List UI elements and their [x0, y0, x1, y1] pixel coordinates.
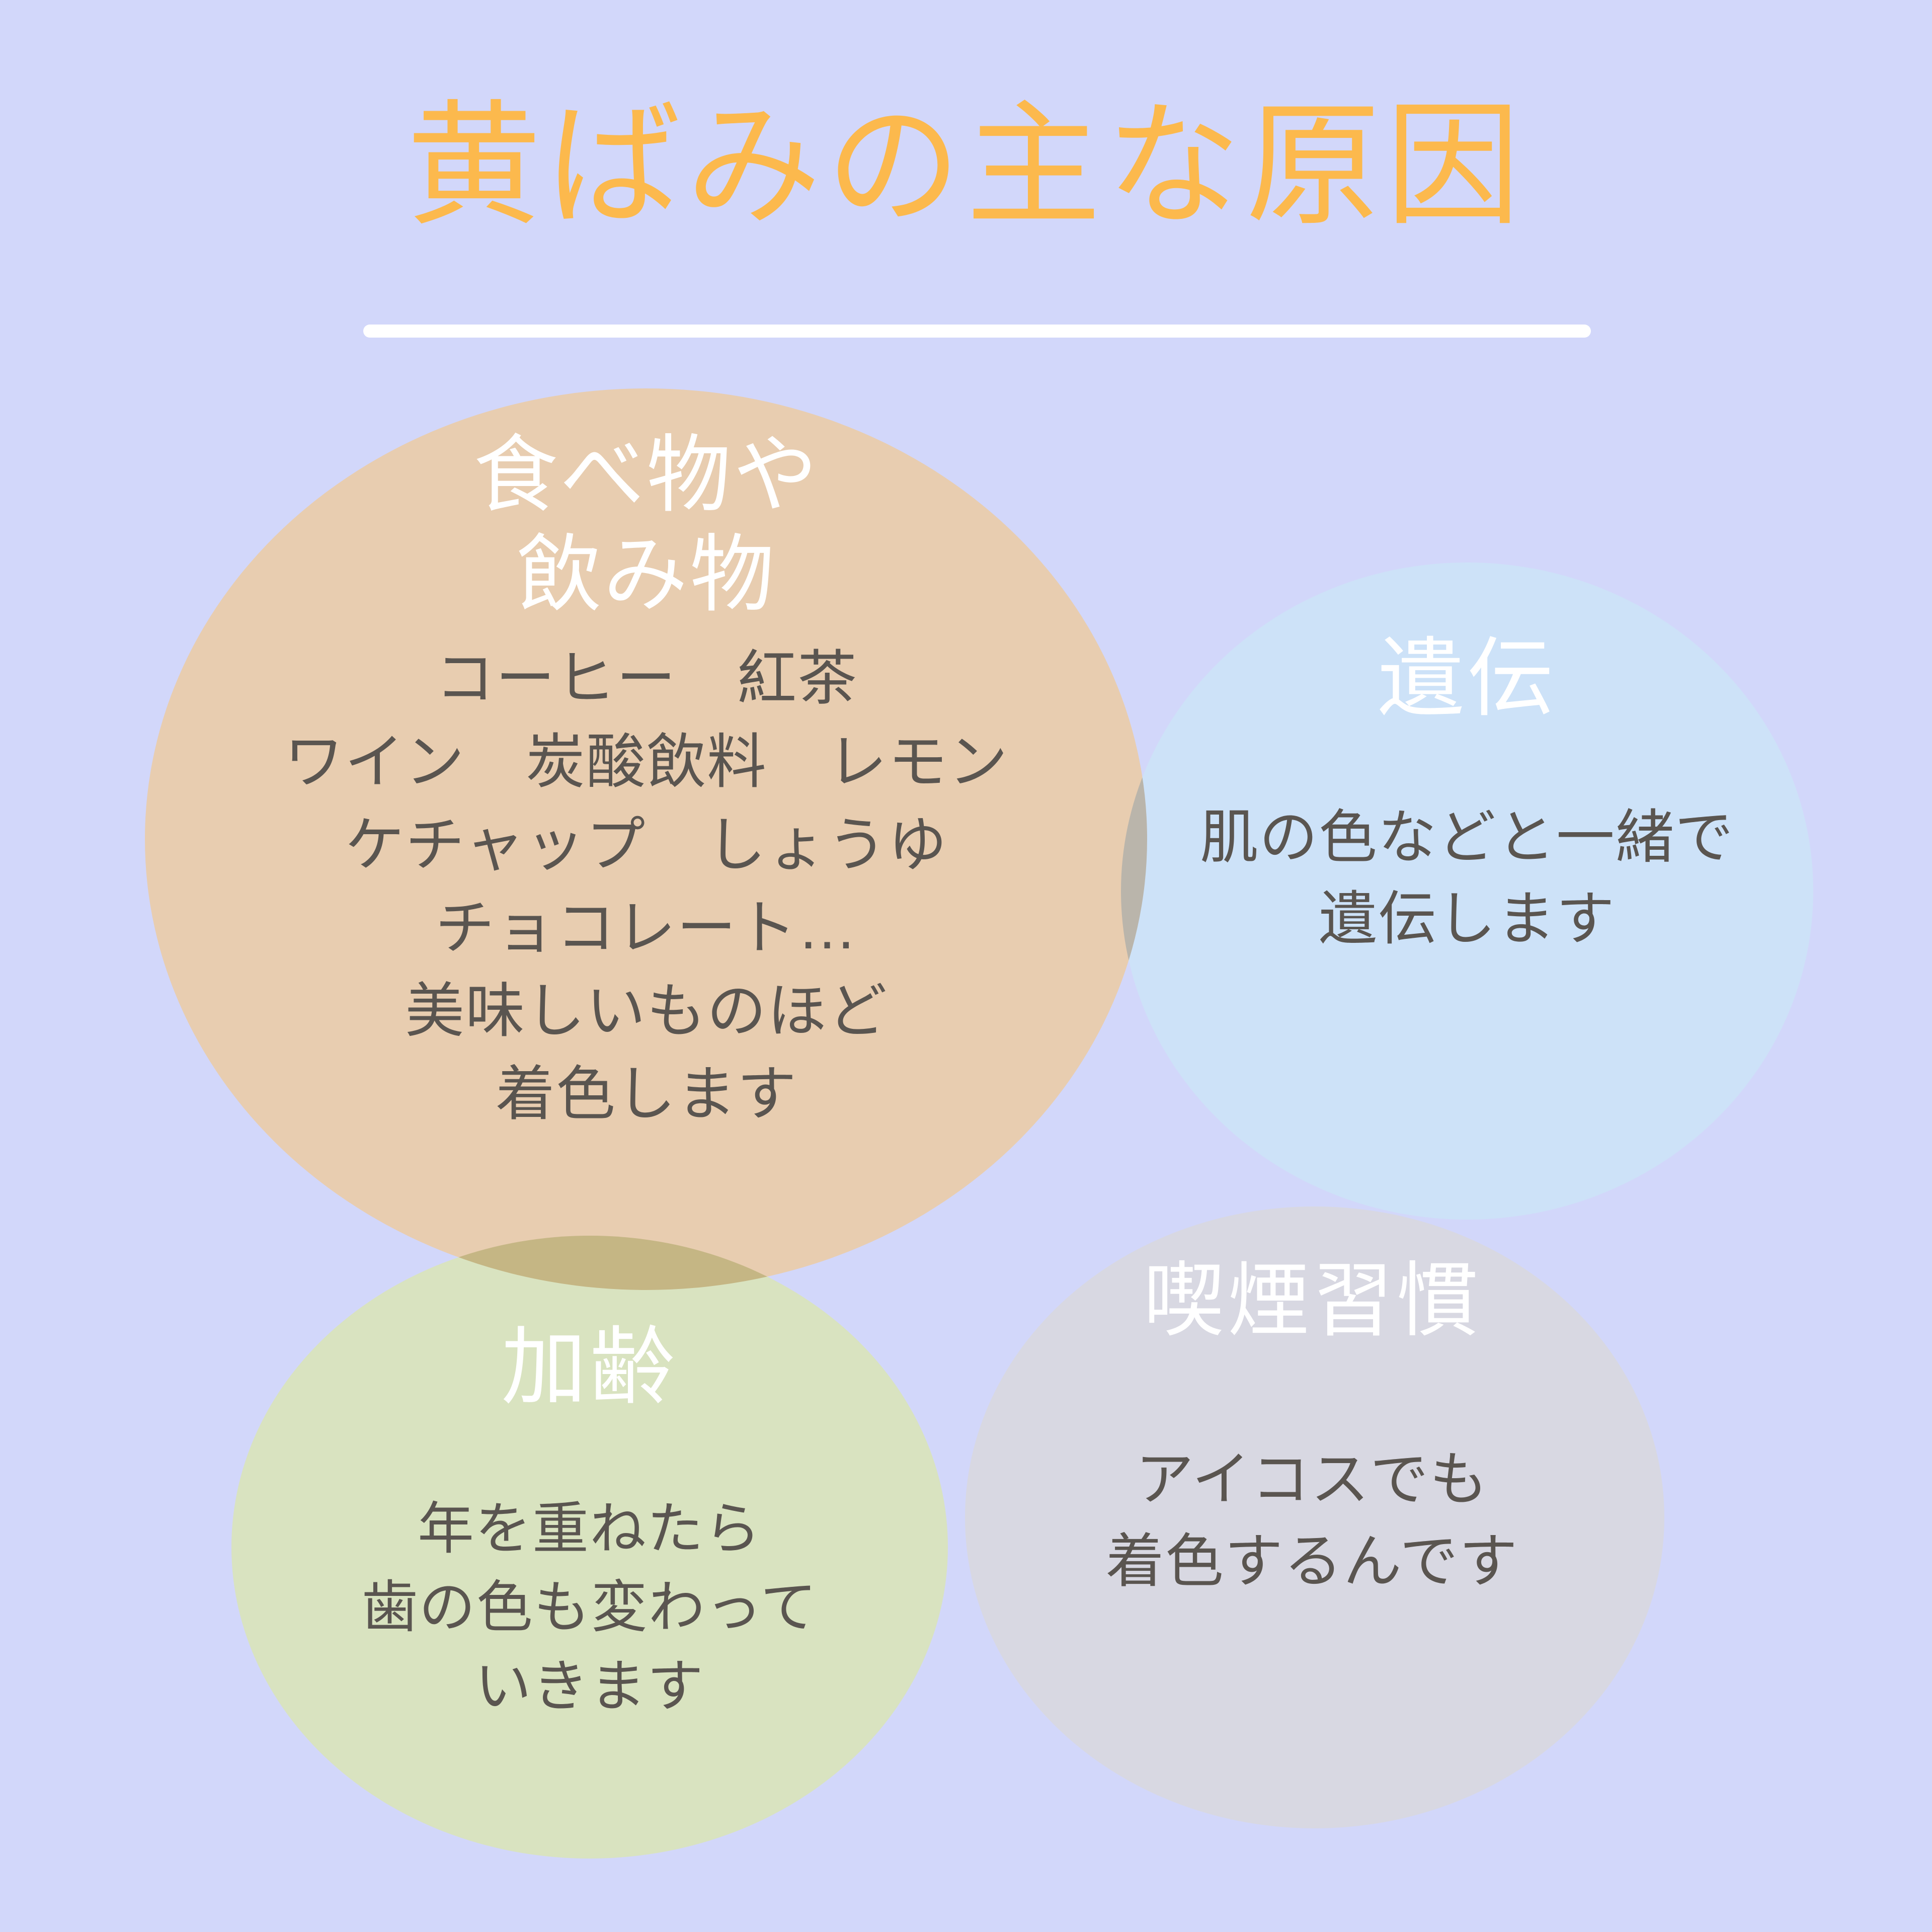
group-food-and-drink: 食べ物や 飲み物 コーヒー 紅茶 ワイン 炭酸飲料 レモン ケチャップ しょうゆ… — [151, 425, 1142, 1137]
heading-line: 飲み物 — [151, 525, 1142, 624]
body-line: いきます — [227, 1647, 952, 1726]
group-heading-genetics: 遺伝 — [1115, 628, 1819, 730]
heading-line: 加齢 — [227, 1317, 952, 1418]
body-line: 歯の色も変わって — [227, 1568, 952, 1647]
group-body-aging: 年を重ねたら 歯の色も変わって いきます — [227, 1490, 952, 1726]
group-genetics: 遺伝 肌の色などと一緒で 遺伝します — [1115, 628, 1819, 960]
body-line: アイコスでも — [960, 1438, 1664, 1520]
body-line: 着色します — [151, 1053, 1142, 1136]
title-block: 黄ばみの主な原因 — [0, 98, 1932, 233]
group-body-smoking-habit: アイコスでも 着色するんです — [960, 1438, 1664, 1602]
body-line: ケチャップ しょうゆ — [151, 804, 1142, 887]
heading-line: 喫煙習慣 — [960, 1253, 1664, 1349]
body-line: ワイン 炭酸飲料 レモン — [151, 721, 1142, 804]
group-heading-smoking-habit: 喫煙習慣 — [960, 1253, 1664, 1349]
body-line: チョコレート… — [151, 887, 1142, 970]
group-body-food-and-drink: コーヒー 紅茶 ワイン 炭酸飲料 レモン ケチャップ しょうゆ チョコレート… … — [151, 637, 1142, 1136]
title-divider — [363, 325, 1591, 338]
body-line: 美味しいものほど — [151, 970, 1142, 1053]
body-line: コーヒー 紅茶 — [151, 637, 1142, 720]
group-aging: 加齢 年を重ねたら 歯の色も変わって いきます — [227, 1317, 952, 1726]
body-line: 年を重ねたら — [227, 1490, 952, 1569]
body-line: 着色するんです — [960, 1520, 1664, 1602]
group-smoking-habit: 喫煙習慣 アイコスでも 着色するんです — [960, 1253, 1664, 1602]
infographic-canvas: 黄ばみの主な原因 食べ物や 飲み物 コーヒー 紅茶 ワイン 炭酸飲料 レモン ケ… — [0, 0, 1932, 1932]
heading-line: 遺伝 — [1115, 628, 1819, 730]
group-body-genetics: 肌の色などと一緒で 遺伝します — [1115, 796, 1819, 960]
heading-line: 食べ物や — [151, 425, 1142, 525]
group-heading-aging: 加齢 — [227, 1317, 952, 1418]
body-line: 肌の色などと一緒で — [1115, 796, 1819, 878]
group-heading-food-and-drink: 食べ物や 飲み物 — [151, 425, 1142, 624]
body-line: 遺伝します — [1115, 878, 1819, 959]
page-title: 黄ばみの主な原因 — [0, 98, 1932, 233]
